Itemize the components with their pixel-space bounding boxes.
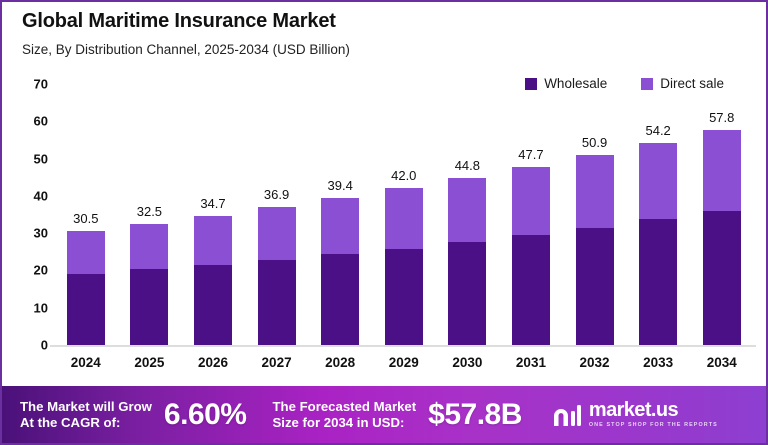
- y-axis-tick: 30: [2, 226, 48, 241]
- cagr-block: The Market will Grow At the CAGR of: 6.6…: [20, 398, 246, 432]
- bar-column-2033[interactable]: 54.2: [626, 84, 690, 345]
- y-axis-tick: 0: [2, 338, 48, 353]
- bar-segment-direct-sale[interactable]: [703, 130, 741, 211]
- bar-segment-wholesale[interactable]: [703, 211, 741, 345]
- bar-stack[interactable]: [448, 178, 486, 345]
- logo-text: market.us ONE STOP SHOP FOR THE REPORTS: [589, 400, 718, 430]
- bar-segment-direct-sale[interactable]: [67, 231, 105, 274]
- bar-total-label: 39.4: [328, 178, 353, 193]
- logo-name: market.us: [589, 400, 718, 420]
- bar-total-label: 42.0: [391, 168, 416, 183]
- y-axis-tick: 10: [2, 300, 48, 315]
- header: Global Maritime Insurance Market Size, B…: [2, 2, 766, 68]
- x-axis-tick-2026: 2026: [181, 351, 245, 377]
- bar-stack[interactable]: [258, 207, 296, 345]
- plot-area: 30.532.534.736.939.442.044.847.750.954.2…: [54, 84, 754, 345]
- x-axis-tick-2032: 2032: [563, 351, 627, 377]
- bar-stack[interactable]: [576, 155, 614, 345]
- bar-stack[interactable]: [130, 224, 168, 345]
- bar-stack[interactable]: [194, 216, 232, 345]
- forecast-block: The Forecasted Market Size for 2034 in U…: [272, 398, 521, 432]
- bar-segment-wholesale[interactable]: [512, 235, 550, 345]
- bar-column-2034[interactable]: 57.8: [690, 84, 754, 345]
- bar-segment-direct-sale[interactable]: [512, 167, 550, 235]
- bar-segment-wholesale[interactable]: [67, 274, 105, 345]
- bar-segment-direct-sale[interactable]: [385, 188, 423, 248]
- footer-banner: The Market will Grow At the CAGR of: 6.6…: [2, 386, 766, 443]
- bar-segment-wholesale[interactable]: [130, 269, 168, 345]
- bar-segment-direct-sale[interactable]: [321, 198, 359, 254]
- axis-baseline: [50, 345, 756, 347]
- bar-segment-direct-sale[interactable]: [194, 216, 232, 266]
- x-axis: 2024202520262027202820292030203120322033…: [54, 351, 754, 377]
- chart-infographic: Global Maritime Insurance Market Size, B…: [0, 0, 768, 445]
- bar-total-label: 44.8: [455, 158, 480, 173]
- bar-segment-wholesale[interactable]: [385, 249, 423, 345]
- y-axis-tick: 70: [2, 77, 48, 92]
- y-axis-tick: 60: [2, 114, 48, 129]
- cagr-label: The Market will Grow At the CAGR of:: [20, 399, 152, 431]
- bar-segment-direct-sale[interactable]: [576, 155, 614, 227]
- x-axis-tick-2027: 2027: [245, 351, 309, 377]
- x-axis-tick-2034: 2034: [690, 351, 754, 377]
- bar-total-label: 34.7: [200, 196, 225, 211]
- x-axis-tick-2024: 2024: [54, 351, 118, 377]
- bar-stack[interactable]: [321, 198, 359, 345]
- bar-segment-wholesale[interactable]: [258, 260, 296, 345]
- forecast-value: $57.8B: [428, 398, 522, 432]
- bar-segment-wholesale[interactable]: [576, 228, 614, 345]
- bar-column-2032[interactable]: 50.9: [563, 84, 627, 345]
- bar-stack[interactable]: [385, 188, 423, 345]
- x-axis-tick-2030: 2030: [436, 351, 500, 377]
- bar-total-label: 30.5: [73, 211, 98, 226]
- bar-column-2030[interactable]: 44.8: [436, 84, 500, 345]
- logo-tagline: ONE STOP SHOP FOR THE REPORTS: [589, 421, 718, 430]
- bar-column-2031[interactable]: 47.7: [499, 84, 563, 345]
- bar-column-2026[interactable]: 34.7: [181, 84, 245, 345]
- bar-column-2024[interactable]: 30.5: [54, 84, 118, 345]
- bar-column-2027[interactable]: 36.9: [245, 84, 309, 345]
- x-axis-tick-2025: 2025: [118, 351, 182, 377]
- bar-segment-direct-sale[interactable]: [639, 143, 677, 219]
- forecast-label: The Forecasted Market Size for 2034 in U…: [272, 399, 416, 431]
- bar-total-label: 32.5: [137, 204, 162, 219]
- bar-column-2028[interactable]: 39.4: [308, 84, 372, 345]
- bar-segment-wholesale[interactable]: [639, 219, 677, 345]
- bar-segment-wholesale[interactable]: [448, 242, 486, 345]
- bar-column-2029[interactable]: 42.0: [372, 84, 436, 345]
- y-axis-tick: 40: [2, 188, 48, 203]
- bar-segment-direct-sale[interactable]: [258, 207, 296, 260]
- bar-stack[interactable]: [512, 167, 550, 345]
- x-axis-tick-2031: 2031: [499, 351, 563, 377]
- x-axis-tick-2033: 2033: [626, 351, 690, 377]
- bar-total-label: 57.8: [709, 110, 734, 125]
- bar-column-2025[interactable]: 32.5: [118, 84, 182, 345]
- y-axis-tick: 20: [2, 263, 48, 278]
- page-title: Global Maritime Insurance Market: [22, 10, 336, 33]
- bar-total-label: 36.9: [264, 187, 289, 202]
- bar-stack[interactable]: [639, 143, 677, 345]
- x-axis-tick-2029: 2029: [372, 351, 436, 377]
- bar-total-label: 54.2: [645, 123, 670, 138]
- bar-segment-direct-sale[interactable]: [130, 224, 168, 269]
- bar-segment-wholesale[interactable]: [194, 265, 232, 345]
- bar-stack[interactable]: [703, 130, 741, 346]
- bar-segment-wholesale[interactable]: [321, 254, 359, 345]
- bar-total-label: 50.9: [582, 135, 607, 150]
- y-axis: 010203040506070: [2, 84, 48, 345]
- cagr-value: 6.60%: [164, 398, 247, 432]
- market-us-logo[interactable]: market.us ONE STOP SHOP FOR THE REPORTS: [552, 400, 718, 430]
- bar-total-label: 47.7: [518, 147, 543, 162]
- x-axis-tick-2028: 2028: [308, 351, 372, 377]
- bar-series-group: 30.532.534.736.939.442.044.847.750.954.2…: [54, 84, 754, 345]
- bar-segment-direct-sale[interactable]: [448, 178, 486, 242]
- y-axis-tick: 50: [2, 151, 48, 166]
- bar-stack[interactable]: [67, 231, 105, 345]
- market-us-bars-logo-icon: [552, 402, 582, 428]
- chart-subtitle: Size, By Distribution Channel, 2025-2034…: [22, 42, 350, 57]
